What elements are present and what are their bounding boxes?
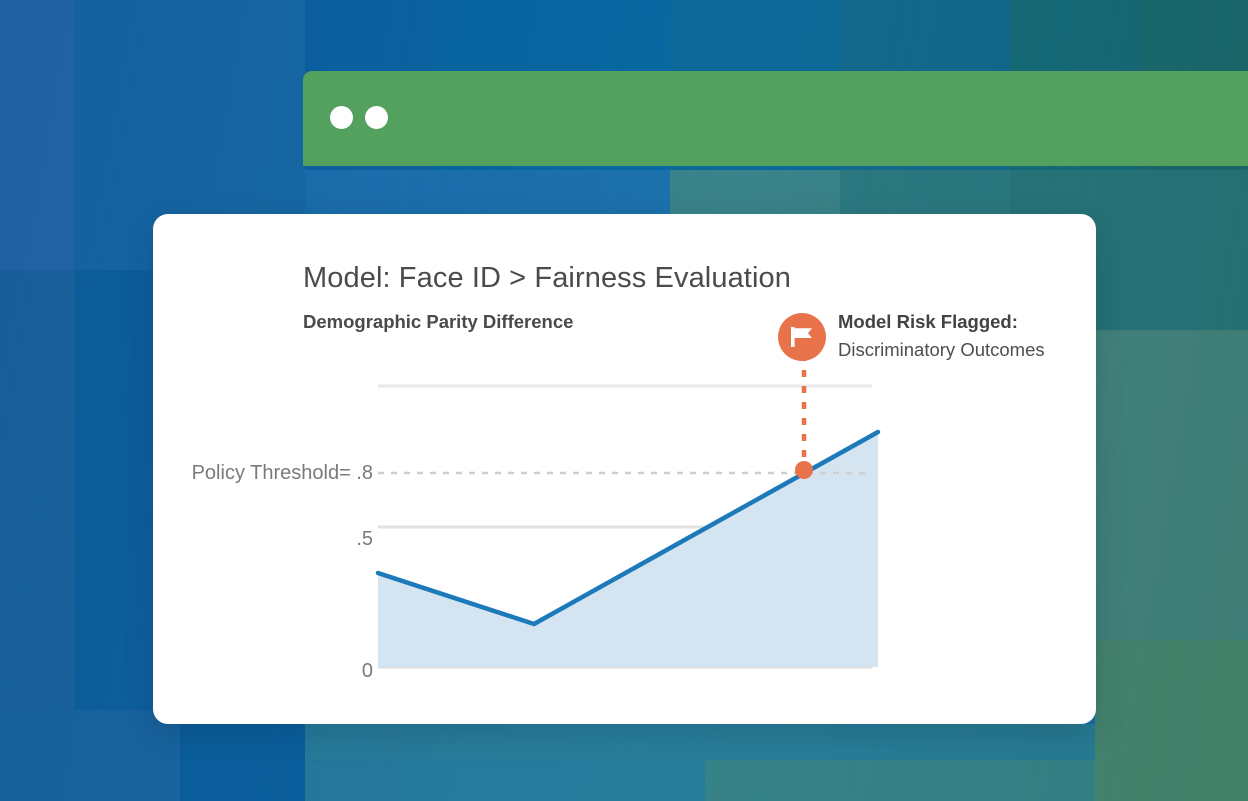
browser-titlebar	[303, 71, 1248, 166]
flag-icon	[791, 327, 813, 347]
report-card: Model: Face ID > Fairness Evaluation Dem…	[153, 214, 1096, 724]
window-dot-1-icon[interactable]	[330, 106, 353, 129]
risk-annotation-title: Model Risk Flagged:	[838, 308, 1045, 336]
flag-badge[interactable]	[778, 313, 826, 361]
risk-marker-dot[interactable]	[795, 461, 813, 479]
y-axis-label-half: .5	[213, 528, 373, 551]
y-axis-label-zero: 0	[213, 660, 373, 683]
window-dot-2-icon[interactable]	[365, 106, 388, 129]
risk-annotation: Model Risk Flagged: Discriminatory Outco…	[778, 308, 1088, 368]
risk-annotation-detail: Discriminatory Outcomes	[838, 336, 1045, 364]
screenshot-stage: Model: Face ID > Fairness Evaluation Dem…	[0, 0, 1248, 801]
risk-annotation-text: Model Risk Flagged: Discriminatory Outco…	[838, 308, 1045, 364]
fairness-area-chart: Policy Threshold= .8 .5 0	[153, 214, 1096, 724]
y-axis-label-threshold: Policy Threshold= .8	[33, 462, 373, 485]
